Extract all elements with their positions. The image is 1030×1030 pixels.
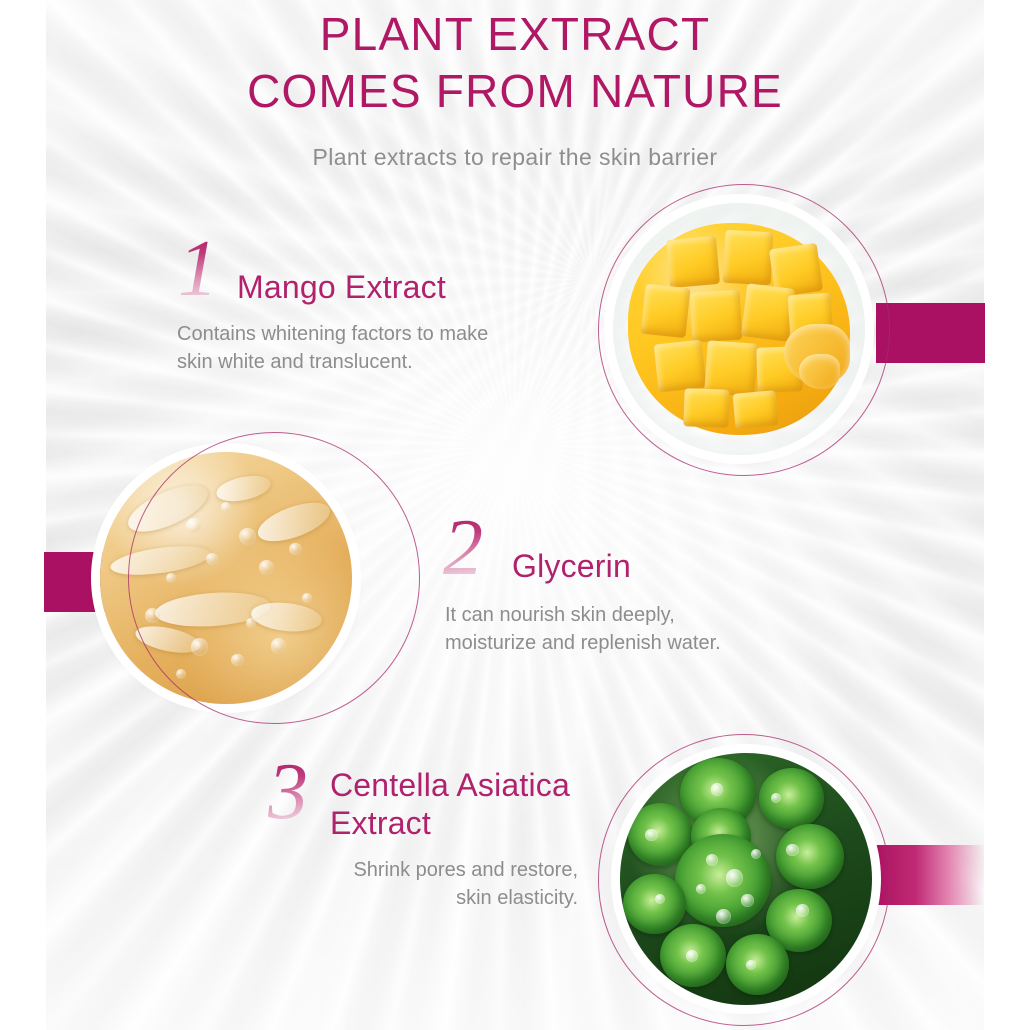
infographic-poster: PLANT EXTRACT COMES FROM NATURE Plant ex… <box>0 0 1030 1030</box>
header: PLANT EXTRACT COMES FROM NATURE Plant ex… <box>0 6 1030 172</box>
mango-cube <box>653 339 706 392</box>
item-2-description: It can nourish skin deeply, moisturize a… <box>445 601 721 657</box>
water-droplet <box>645 829 658 842</box>
water-droplet <box>796 904 809 917</box>
gel-bubble <box>271 638 286 653</box>
mango-cube <box>704 340 758 396</box>
centella-leaf <box>759 768 825 828</box>
water-droplet <box>746 960 756 970</box>
water-droplet <box>751 849 761 859</box>
item-3-description: Shrink pores and restore, skin elasticit… <box>316 856 578 912</box>
poster-subtitle: Plant extracts to repair the skin barrie… <box>0 142 1030 172</box>
mango-syrup-swirl <box>799 354 839 389</box>
water-droplet <box>696 884 706 894</box>
gel-bubble <box>186 518 201 533</box>
gel-bubble <box>231 654 244 667</box>
item-2-title: Glycerin <box>512 547 631 585</box>
mango-cube <box>732 390 778 429</box>
item-1-description: Contains whitening factors to make skin … <box>177 320 488 376</box>
mango-cubes-photo <box>613 203 865 455</box>
water-droplet <box>711 783 724 796</box>
glycerin-gel-photo <box>100 452 352 704</box>
poster-title-line-2: COMES FROM NATURE <box>0 63 1030 120</box>
water-droplet <box>741 894 754 907</box>
mango-cube <box>666 236 720 288</box>
item-3-accent-bar <box>873 845 985 905</box>
item-1-accent-bar <box>876 303 985 363</box>
item-3-numeral: 3 <box>268 752 308 832</box>
mango-cube <box>723 230 774 285</box>
gel-bubble <box>166 573 176 583</box>
water-droplet <box>686 950 699 963</box>
mango-cube <box>741 283 795 341</box>
mango-cube <box>683 389 730 428</box>
item-3-title: Centella Asiatica Extract <box>330 766 570 842</box>
centella-leaf <box>726 934 789 994</box>
mango-cube <box>690 290 743 343</box>
centella-leaves-photo <box>620 753 872 1005</box>
item-1-numeral: 1 <box>178 229 218 309</box>
item-1-title: Mango Extract <box>237 268 446 306</box>
gel-bubble <box>302 593 312 603</box>
mango-cube <box>641 284 691 339</box>
poster-title-line-1: PLANT EXTRACT <box>0 6 1030 63</box>
centella-leaf <box>776 824 844 890</box>
centella-leaf <box>623 874 686 934</box>
item-2-numeral: 2 <box>443 508 483 588</box>
water-droplet <box>786 844 799 857</box>
gel-bubble <box>289 543 302 556</box>
water-droplet <box>726 869 744 887</box>
gel-bubble <box>176 669 186 679</box>
